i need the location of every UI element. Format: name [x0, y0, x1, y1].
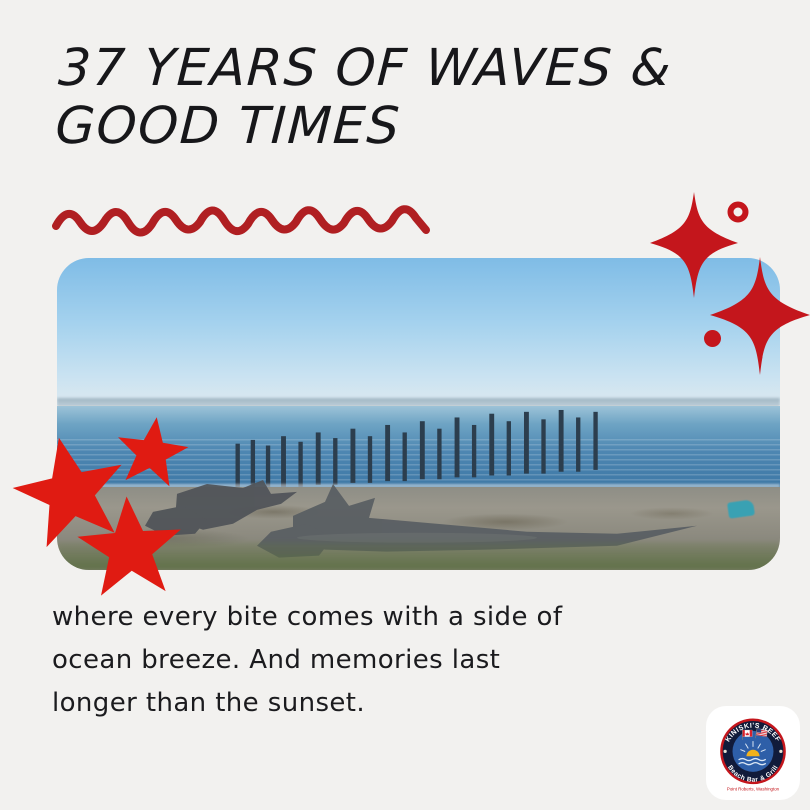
wavy-squiggle-underline	[52, 186, 432, 248]
poster-canvas: 37 YEARS OF WAVES & GOOD TIMES	[0, 0, 810, 810]
page-title: 37 YEARS OF WAVES & GOOD TIMES	[54, 40, 700, 156]
ring-outline-icon	[726, 200, 750, 224]
logo-tagline: Point Roberts, Washington	[727, 787, 780, 792]
brand-logo[interactable]: KINISKI'S REEF Beach Bar & Grill Point R…	[706, 706, 800, 800]
hero-photo	[57, 258, 780, 570]
body-text: where every bite comes with a side of oc…	[52, 596, 572, 725]
photo-sky	[57, 258, 780, 405]
photo-pier-pilings	[216, 395, 650, 489]
kiniskis-reef-logo-icon: KINISKI'S REEF Beach Bar & Grill Point R…	[712, 712, 794, 794]
photo-grass	[57, 542, 780, 570]
